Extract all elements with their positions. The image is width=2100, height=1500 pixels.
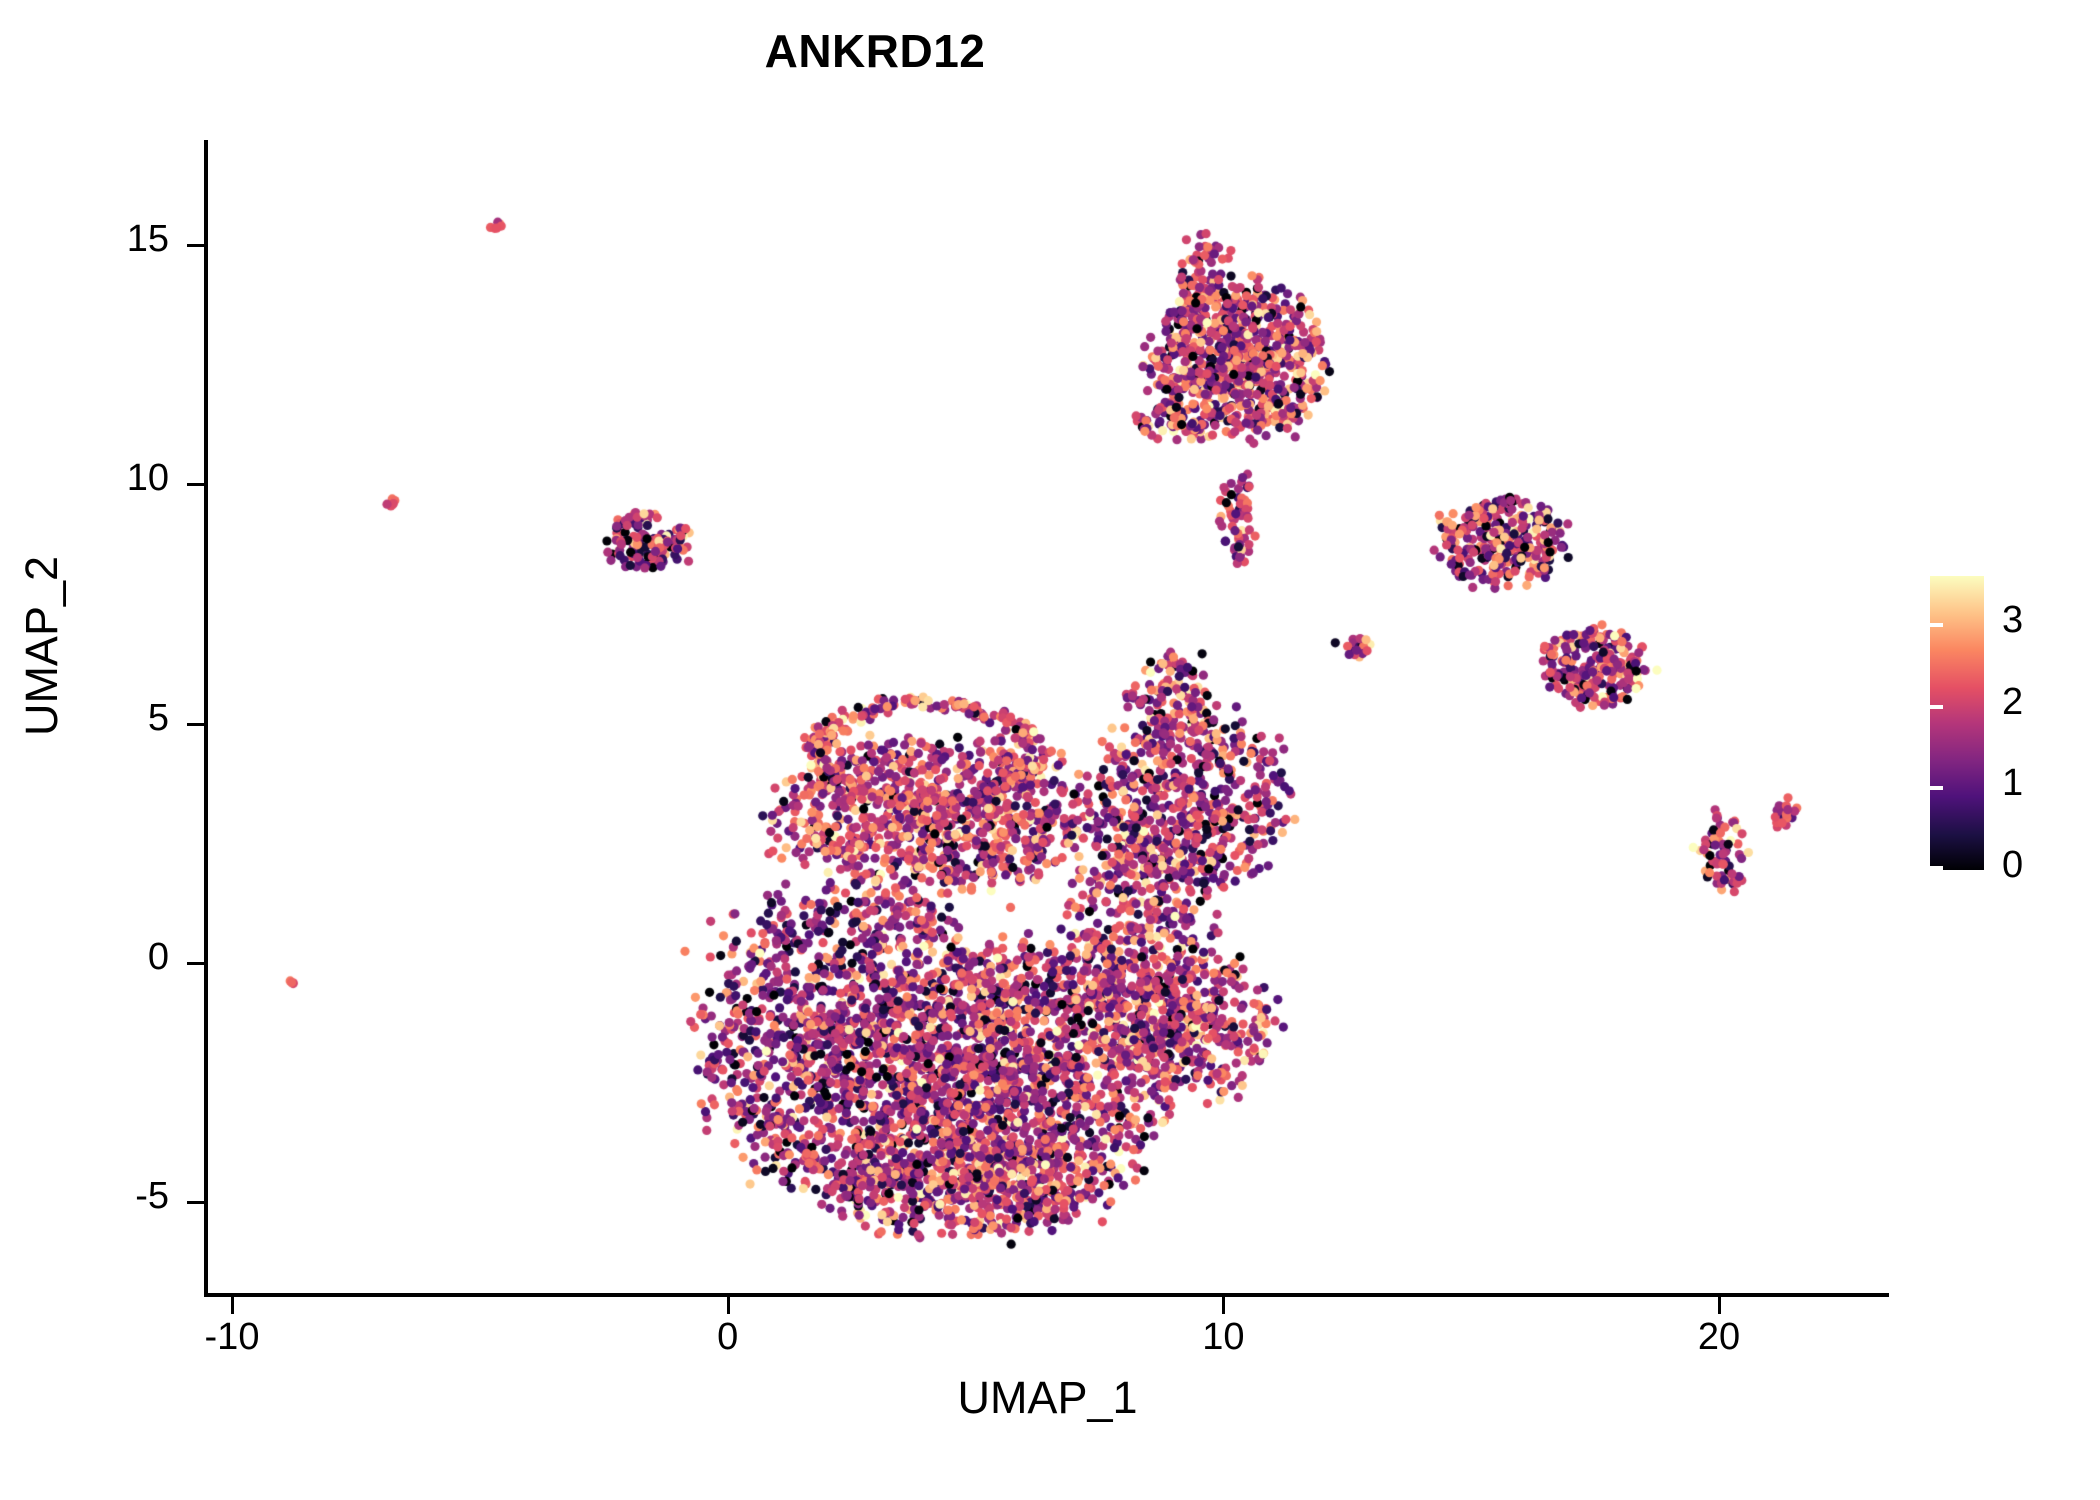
scatter-points-layer [205, 140, 1885, 1295]
x-axis-title: UMAP_1 [205, 1372, 1890, 1424]
legend-tick-mark [2067, 866, 2080, 870]
umap-feature-plot: ANKRD12 151050-5 -1001020 UMAP_2 UMAP_1 … [0, 0, 2100, 1500]
legend-tick-mark [2067, 705, 2080, 709]
x-tick-label: 20 [1639, 1316, 1799, 1359]
y-tick-label: -5 [59, 1175, 169, 1218]
x-tick-mark [1222, 1297, 1225, 1314]
legend-tick-mark [1930, 623, 1943, 627]
x-tick-mark [231, 1297, 234, 1314]
legend-tick-mark [1930, 705, 1943, 709]
y-tick-mark [187, 483, 204, 486]
plot-panel [205, 140, 1885, 1295]
x-tick-mark [727, 1297, 730, 1314]
legend-tick-mark [2067, 623, 2080, 627]
x-tick-mark [1718, 1297, 1721, 1314]
y-tick-label: 5 [59, 697, 169, 740]
y-axis-title: UMAP_2 [16, 436, 68, 856]
x-tick-label: 0 [648, 1316, 808, 1359]
x-tick-label: 10 [1143, 1316, 1303, 1359]
y-tick-mark [187, 962, 204, 965]
y-tick-mark [187, 723, 204, 726]
page-title: ANKRD12 [0, 24, 1750, 78]
x-tick-label: -10 [152, 1316, 312, 1359]
color-legend: 3210 [1930, 576, 2080, 928]
legend-tick-label: 2 [2002, 681, 2062, 724]
legend-tick-label: 3 [2002, 599, 2062, 642]
y-tick-label: 10 [59, 457, 169, 500]
legend-tick-label: 0 [2002, 844, 2062, 887]
legend-colorbar [1930, 576, 1984, 870]
y-tick-mark [187, 1201, 204, 1204]
x-axis-line [204, 1293, 1889, 1297]
y-axis-line [204, 140, 208, 1295]
y-tick-mark [187, 244, 204, 247]
y-tick-label: 0 [59, 936, 169, 979]
legend-tick-mark [1930, 866, 1943, 870]
legend-tick-mark [1930, 786, 1943, 790]
legend-tick-label: 1 [2002, 762, 2062, 805]
legend-tick-mark [2067, 786, 2080, 790]
y-tick-label: 15 [59, 218, 169, 261]
